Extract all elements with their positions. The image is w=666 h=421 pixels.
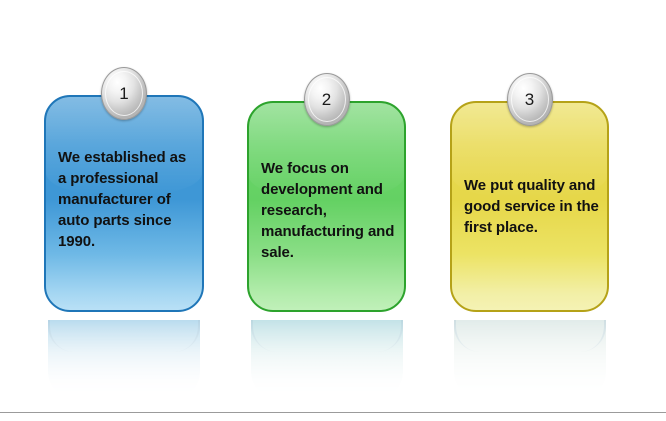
card-text-3: We put quality and good service in the f… (464, 175, 603, 238)
step-badge-3[interactable]: 3 (507, 73, 553, 126)
process-card-1[interactable]: We established as a professional manufac… (44, 95, 204, 312)
step-badge-2[interactable]: 2 (304, 73, 350, 126)
badge-number-3: 3 (525, 91, 534, 108)
step-badge-1[interactable]: 1 (101, 67, 147, 120)
card-body-1[interactable]: We established as a professional manufac… (44, 95, 204, 312)
reflection-edge-3 (454, 320, 606, 352)
bottom-divider (0, 412, 666, 413)
slide-canvas: We established as a professional manufac… (0, 0, 666, 421)
card-body-2[interactable]: We focus on development and research, ma… (247, 101, 406, 312)
card-text-2: We focus on development and research, ma… (261, 158, 400, 263)
card-text-1: We established as a professional manufac… (58, 147, 198, 252)
card-reflection-3 (454, 320, 606, 398)
reflection-edge-1 (48, 320, 200, 352)
card-reflection-2 (251, 320, 403, 398)
badge-number-1: 1 (119, 85, 128, 102)
card-body-3[interactable]: We put quality and good service in the f… (450, 101, 609, 312)
process-card-2[interactable]: We focus on development and research, ma… (247, 101, 406, 312)
card-reflection-1 (48, 320, 200, 398)
process-card-3[interactable]: We put quality and good service in the f… (450, 101, 609, 312)
reflection-edge-2 (251, 320, 403, 352)
badge-number-2: 2 (322, 91, 331, 108)
